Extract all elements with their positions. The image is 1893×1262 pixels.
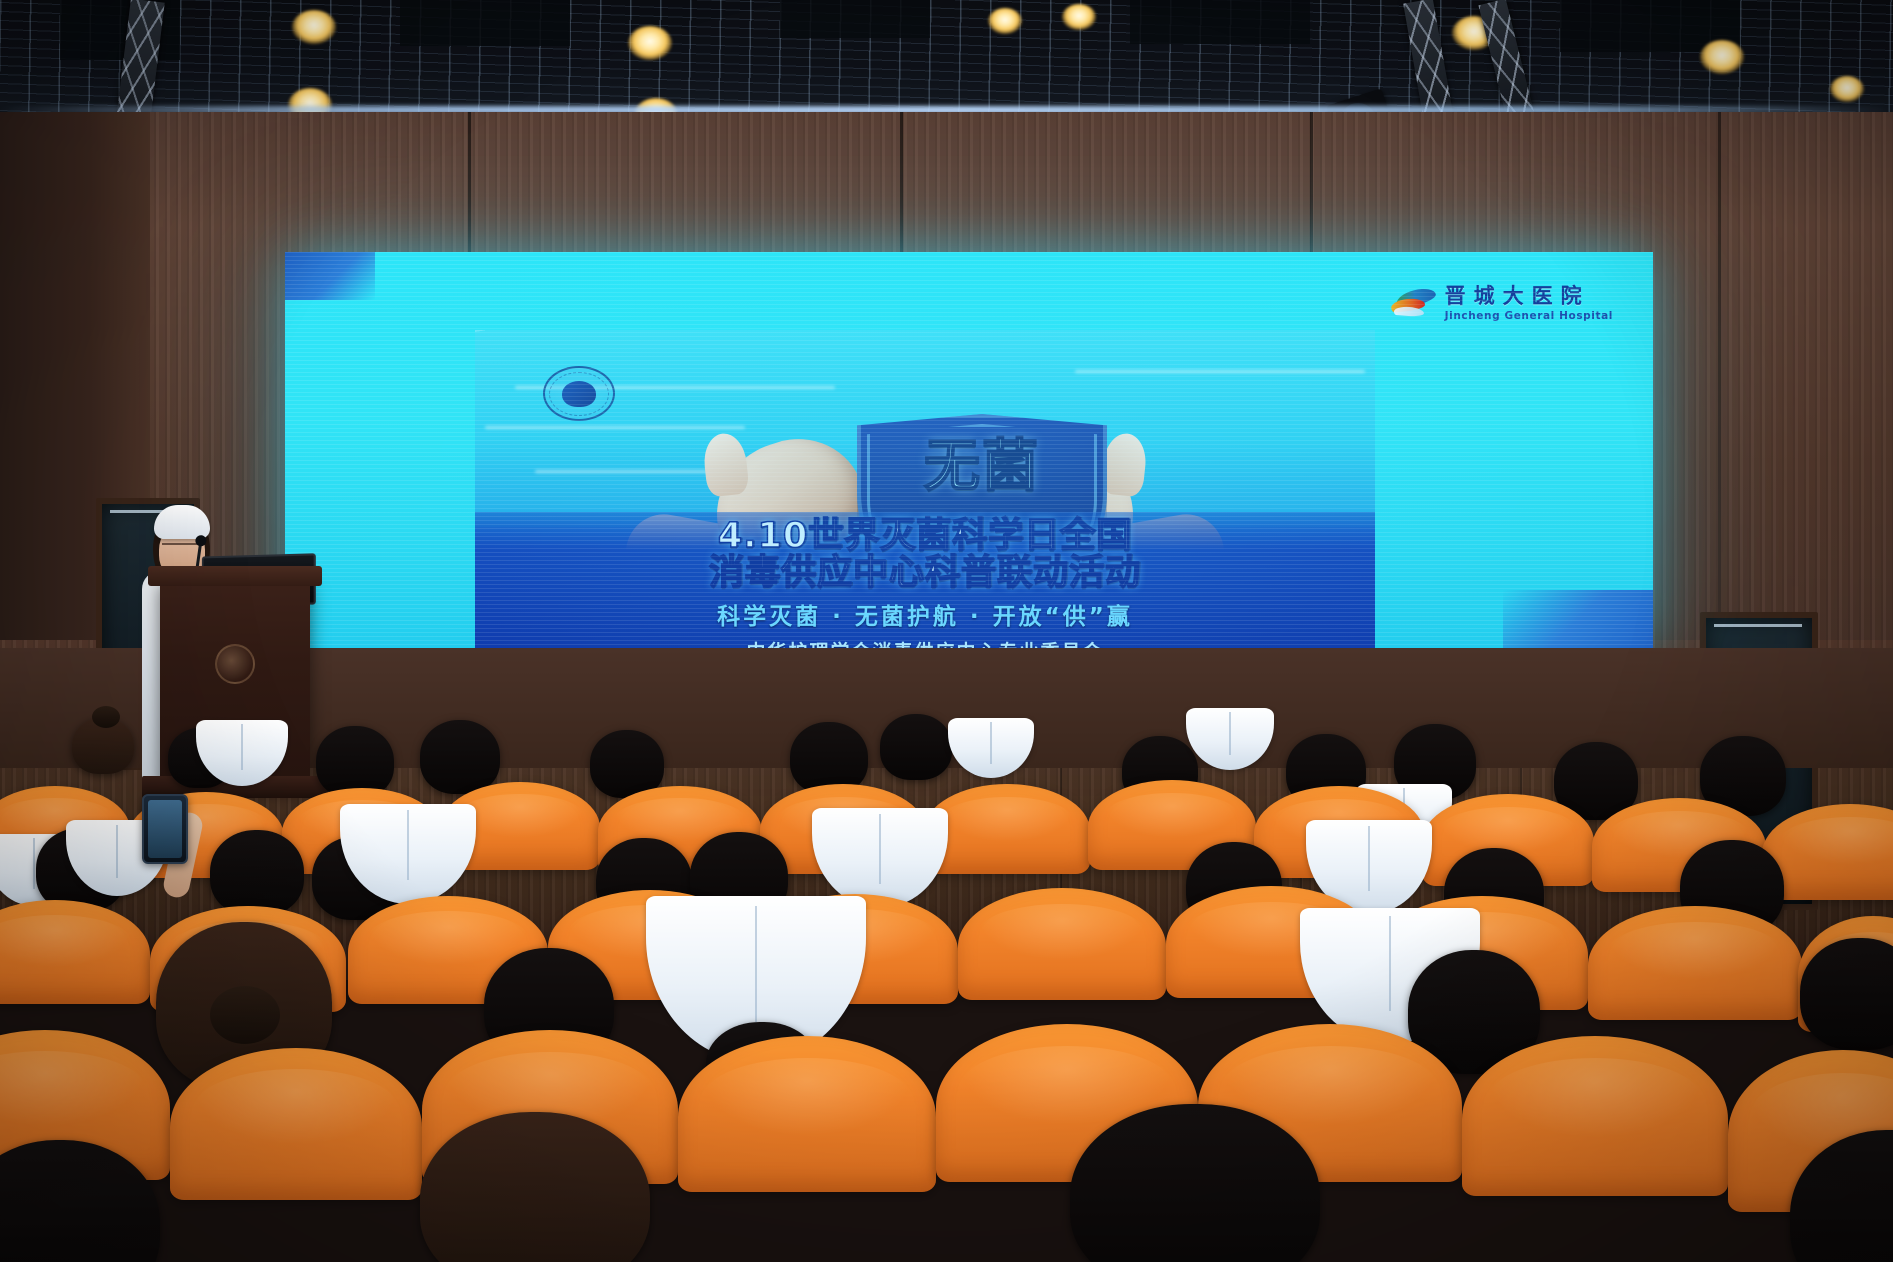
ceiling-slab xyxy=(400,0,570,46)
recessed-downlight xyxy=(628,26,672,60)
poster-title-line2: 消毒供应中心科普联动活动 xyxy=(709,555,1141,592)
door-top-highlight xyxy=(1714,624,1802,627)
hospital-swoosh-logo-icon xyxy=(1390,289,1436,319)
led-corner-accent-br xyxy=(1503,590,1653,650)
auditorium-seat[interactable] xyxy=(924,784,1090,874)
audience-head xyxy=(880,714,952,780)
water-streak xyxy=(1075,370,1365,373)
audience-head xyxy=(210,830,304,916)
lectern-top xyxy=(148,566,322,586)
water-streak xyxy=(535,470,715,473)
recessed-downlight xyxy=(1700,40,1744,74)
cap-fold xyxy=(241,724,243,770)
hair-bun xyxy=(210,986,280,1044)
acoustic-ceiling-grid xyxy=(0,0,1893,120)
audience-head xyxy=(420,720,500,794)
poster-title-block: 4.10世界灭菌科学日全国 消毒供应中心科普联动活动 科学灭菌 · 无菌护航 ·… xyxy=(475,512,1375,648)
auditorium-seat[interactable] xyxy=(678,1036,936,1192)
nurse-cap-icon xyxy=(812,808,948,908)
auditorium-seat[interactable] xyxy=(0,900,150,1004)
cap-fold xyxy=(1229,712,1231,755)
nurse-cap-icon xyxy=(154,505,210,539)
water-streak xyxy=(485,426,745,429)
auditorium-seat[interactable] xyxy=(170,1048,422,1200)
recessed-downlight xyxy=(292,10,336,44)
led-corner-accent-tl xyxy=(285,252,375,300)
hair-bun xyxy=(92,706,120,728)
audience-head xyxy=(790,722,868,794)
audience-head xyxy=(1800,938,1893,1050)
smartphone-icon[interactable] xyxy=(142,794,188,864)
nurse-cap-icon xyxy=(1186,708,1274,770)
nurse-cap-icon xyxy=(948,718,1034,778)
auditorium-scene: 晋城大医院 Jincheng General Hospital xyxy=(0,0,1893,1262)
phone-screen xyxy=(148,800,182,858)
hospital-name-en: Jincheng General Hospital xyxy=(1445,311,1613,322)
cap-fold xyxy=(116,825,118,878)
auditorium-seat[interactable] xyxy=(1588,906,1802,1020)
cap-fold xyxy=(33,838,35,888)
auditorium-seat[interactable] xyxy=(958,888,1166,1000)
cap-fold xyxy=(407,810,409,880)
shield-text: 无菌 xyxy=(857,438,1107,495)
ceiling-slab xyxy=(1130,0,1310,44)
cap-fold xyxy=(990,722,992,764)
recessed-downlight xyxy=(1830,76,1864,102)
hospital-name-cn: 晋城大医院 xyxy=(1445,286,1613,307)
led-video-wall[interactable]: 晋城大医院 Jincheng General Hospital xyxy=(285,252,1653,650)
poster-slogan: 科学灭菌 · 无菌护航 · 开放“供”赢 xyxy=(717,597,1133,631)
poster-organizer: 中华护理学会消毒供应中心专业委员会 xyxy=(746,637,1103,648)
hospital-name-block: 晋城大医院 Jincheng General Hospital xyxy=(1445,286,1613,322)
event-poster: 无菌 4.10世界灭菌科学日全国 消毒供应中心科普联动活动 科学灭菌 · 无菌护… xyxy=(475,330,1375,648)
cap-fold xyxy=(1368,826,1370,892)
ceiling-slab xyxy=(780,0,930,38)
recessed-downlight xyxy=(988,8,1022,34)
chinese-nursing-association-emblem-icon xyxy=(543,366,615,421)
recessed-downlight xyxy=(1062,4,1096,30)
cap-fold xyxy=(755,906,757,1022)
cap-fold xyxy=(1389,916,1391,1011)
lectern-crest-icon xyxy=(215,644,255,684)
cap-fold xyxy=(879,814,881,884)
audience-area xyxy=(0,700,1893,1262)
hospital-logo: 晋城大医院 Jincheng General Hospital xyxy=(1390,286,1613,322)
auditorium-seat[interactable] xyxy=(1462,1036,1728,1196)
poster-title-line1: 4.10世界灭菌科学日全国 xyxy=(718,518,1132,555)
